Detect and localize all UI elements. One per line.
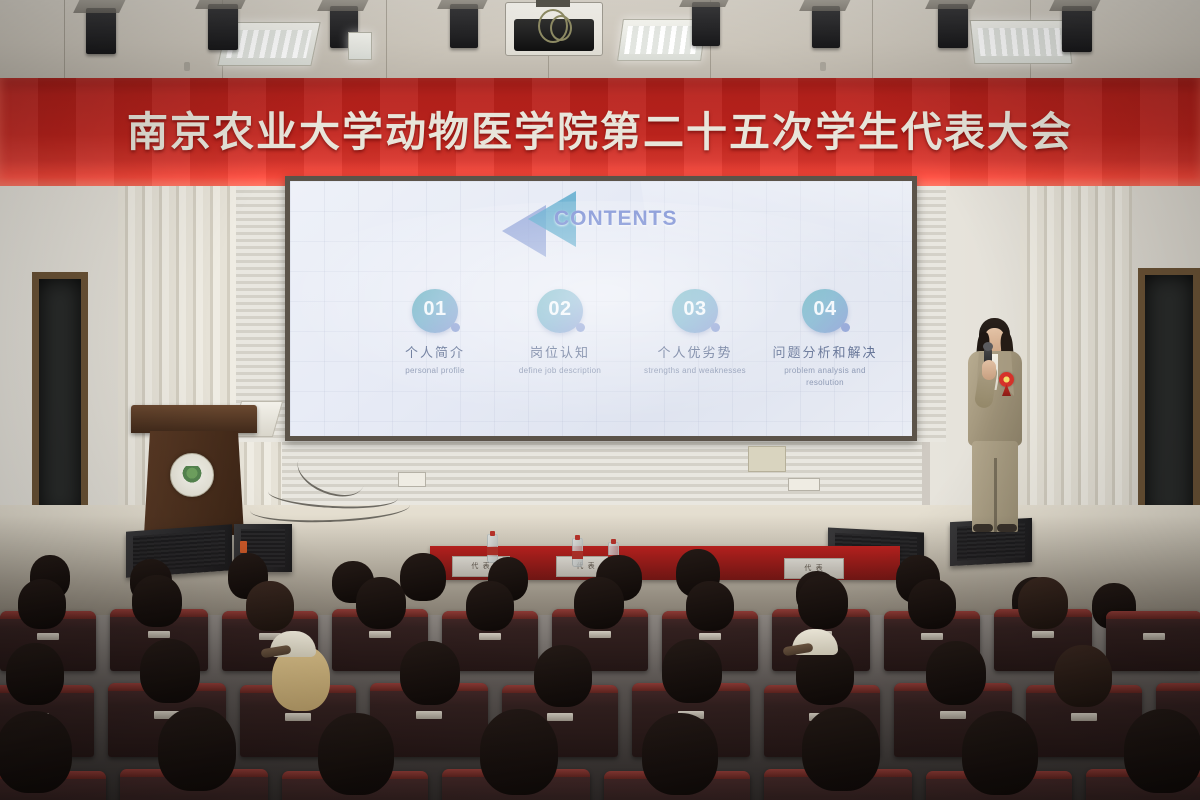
content-item-01: 01 个人简介 personal profile [375, 289, 495, 377]
audience-head [132, 575, 182, 627]
audience-head [466, 581, 514, 631]
audience-head [400, 641, 460, 705]
content-label-en: problem analysis and resolution [752, 365, 898, 389]
right-doorway[interactable] [1138, 268, 1200, 530]
podium-top [131, 405, 257, 433]
audience-head [962, 711, 1038, 795]
ceiling-light-panel [970, 20, 1073, 64]
content-label-en: strengths and weaknesses [625, 365, 765, 377]
audience-head [798, 575, 848, 629]
wall-outlet-right[interactable] [788, 478, 820, 491]
ceiling-projector [505, 2, 603, 56]
right-curtain [1020, 186, 1132, 526]
audience-head [642, 713, 718, 795]
content-item-02: 02 岗位认知 define job description [495, 289, 625, 377]
audience-head [926, 641, 986, 705]
audience-head [662, 639, 722, 703]
audience-head [246, 581, 294, 631]
audience-head [140, 639, 200, 703]
audience-head [534, 645, 592, 707]
ceiling [0, 0, 1200, 78]
wall-sign [748, 446, 786, 472]
content-label-cn: 个人简介 [375, 342, 495, 361]
content-number: 04 [802, 298, 848, 321]
banner-title: 南京农业大学动物医学院第二十五次学生代表大会 [0, 98, 1200, 158]
content-label-cn: 个人优劣势 [625, 342, 765, 361]
ceiling-speaker [450, 4, 478, 48]
decor-triangle-front [528, 191, 576, 247]
presenter-hand [982, 360, 996, 380]
event-banner: 南京农业大学动物医学院第二十五次学生代表大会 [0, 78, 1200, 186]
content-number-bubble: 03 [672, 289, 718, 333]
seat[interactable] [1106, 611, 1200, 671]
presentation-slide: CONTENTS 01 个人简介 personal profile 02 岗位认… [290, 181, 912, 436]
content-label-en: define job description [495, 365, 625, 377]
audience-head [0, 711, 72, 793]
slide-title: CONTENTS [554, 207, 678, 231]
ceiling-speaker [1062, 6, 1092, 52]
presenter [955, 318, 1033, 532]
content-label-cn: 岗位认知 [495, 342, 625, 361]
audience-head [400, 553, 446, 601]
university-emblem [170, 453, 214, 497]
ceiling-speaker [812, 6, 840, 48]
ceiling-sensor [820, 62, 826, 71]
audience-head [1054, 645, 1112, 707]
ceiling-speaker [208, 4, 238, 50]
audience-head [356, 577, 406, 629]
content-number-bubble: 02 [537, 289, 583, 333]
decor-triangle-back [502, 205, 546, 257]
ceiling-sensor [184, 62, 190, 71]
content-number-bubble: 01 [412, 289, 458, 333]
content-number: 01 [412, 298, 458, 321]
audience-head [574, 577, 624, 629]
content-item-04: 04 问题分析和解决 problem analysis and resoluti… [752, 289, 898, 389]
content-item-03: 03 个人优劣势 strengths and weaknesses [625, 289, 765, 377]
audience-area [0, 515, 1200, 800]
audience-head [480, 709, 558, 795]
content-label-cn: 问题分析和解决 [752, 342, 898, 361]
auditorium-photo: 南京农业大学动物医学院第二十五次学生代表大会 CONTENTS 01 个人简介 … [0, 0, 1200, 800]
content-number: 03 [672, 298, 718, 321]
ceiling-speaker [692, 2, 720, 46]
audience-head [318, 713, 394, 795]
screen-glare [640, 181, 912, 353]
audience-head [6, 643, 64, 705]
ceiling-speaker [938, 4, 968, 48]
audience-head [686, 581, 734, 631]
wall-outlet-left[interactable] [398, 472, 426, 487]
audience-head [1018, 577, 1068, 629]
audience-head [18, 579, 66, 629]
content-number-bubble: 04 [802, 289, 848, 333]
left-doorway[interactable] [32, 272, 88, 524]
audience-head [158, 707, 236, 791]
content-number: 02 [537, 298, 583, 321]
audience-head [802, 707, 880, 791]
projection-screen: CONTENTS 01 个人简介 personal profile 02 岗位认… [285, 176, 917, 441]
red-flower-badge [999, 372, 1014, 387]
audience-head [1124, 709, 1200, 793]
audience-head [908, 579, 956, 629]
content-label-en: personal profile [375, 365, 495, 377]
ceiling-speaker [86, 8, 116, 54]
emergency-sign [348, 32, 372, 60]
